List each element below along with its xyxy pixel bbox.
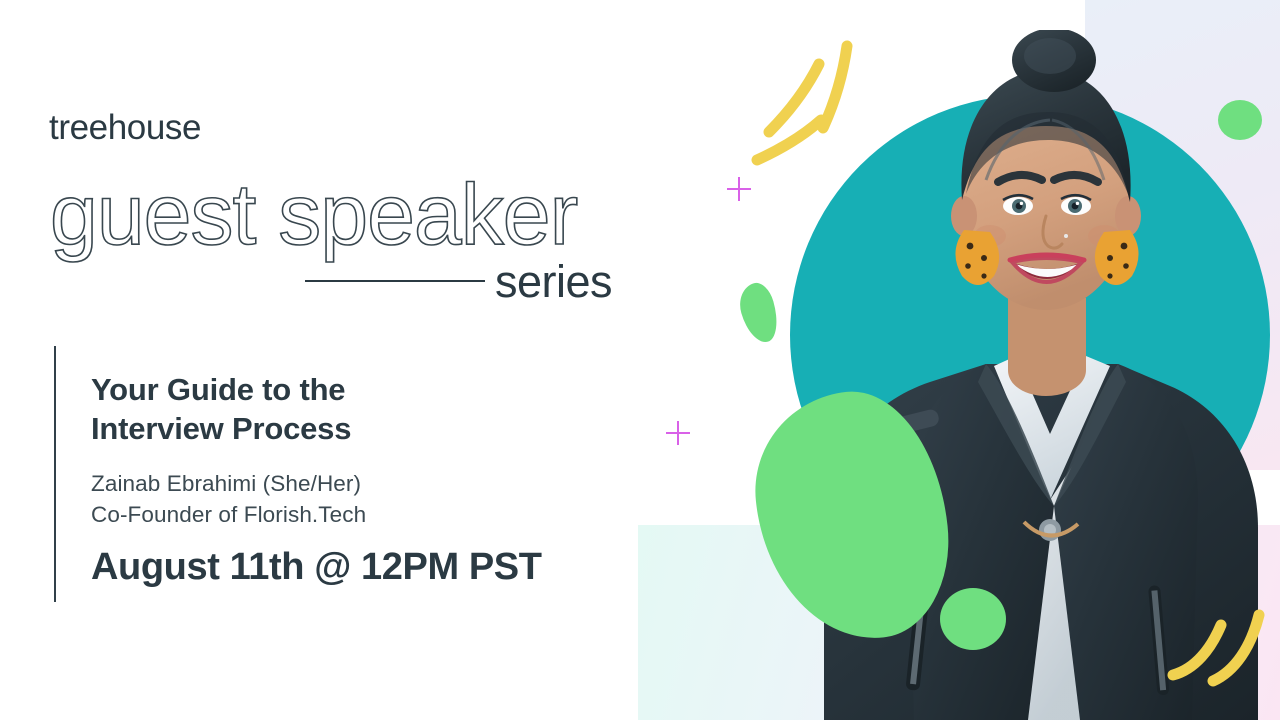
yellow-spark-strokes	[745, 28, 885, 188]
headline-outline-label: guest speaker	[50, 167, 578, 263]
plus-mark-icon	[666, 421, 690, 445]
yellow-curve-strokes	[1165, 585, 1280, 720]
brand-wordmark: treehouse	[49, 110, 201, 145]
talk-details: Your Guide to the Interview Process Zain…	[91, 370, 631, 589]
series-divider-rule	[305, 280, 485, 282]
green-circle-shape	[940, 588, 1006, 650]
event-datetime: August 11th @ 12PM PST	[91, 547, 631, 589]
speaker-info: Zainab Ebrahimi (She/Her) Co-Founder of …	[91, 468, 631, 530]
speaker-name: Zainab Ebrahimi (She/Her)	[91, 468, 631, 499]
series-label: series	[495, 258, 612, 305]
talk-title-line-2: Interview Process	[91, 409, 631, 448]
green-blob-shape	[734, 279, 783, 346]
talk-title: Your Guide to the Interview Process	[91, 370, 631, 449]
detail-accent-rule	[54, 346, 56, 602]
speaker-role: Co-Founder of Florish.Tech	[91, 499, 631, 530]
series-row: series	[305, 258, 635, 306]
headline-outline-text: guest speaker	[42, 160, 662, 270]
talk-title-line-1: Your Guide to the	[91, 370, 631, 409]
poster-canvas: treehouse guest speaker series Your Guid…	[0, 0, 1280, 720]
